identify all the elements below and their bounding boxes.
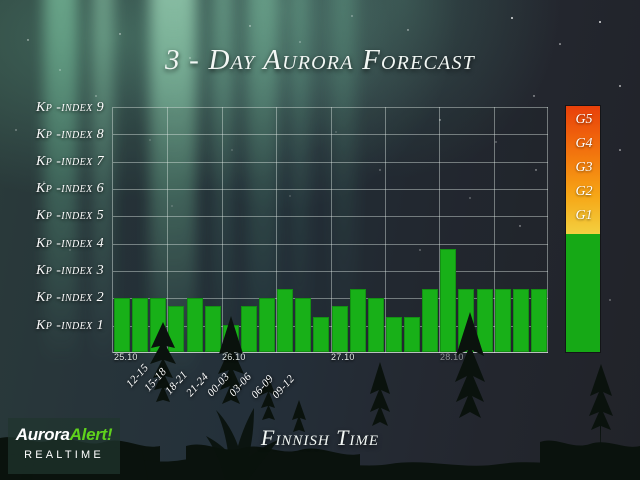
y-axis-label: Kp -index 3: [0, 263, 104, 279]
logo-wordmark: AuroraAlert!: [8, 425, 120, 445]
g-scale-label-g4: G4: [566, 136, 601, 152]
forecast-bar: [495, 289, 511, 352]
forecast-bars: [113, 107, 548, 352]
logo-subtitle: REALTIME: [8, 449, 120, 461]
forecast-bar: [205, 306, 221, 352]
forecast-bar: [187, 298, 203, 352]
y-axis-label: Kp -index 5: [0, 208, 104, 224]
x-axis-date-tick: 25.10: [114, 352, 138, 362]
g-scale-label-g2: G2: [566, 184, 601, 200]
forecast-bar: [404, 317, 420, 352]
forecast-bar: [114, 298, 130, 352]
aurora-alert-logo[interactable]: AuroraAlert! REALTIME: [8, 418, 120, 474]
y-axis-label: Kp -index 2: [0, 290, 104, 306]
forecast-bar: [277, 289, 293, 352]
y-axis-label: Kp -index 7: [0, 154, 104, 170]
forecast-bar: [513, 289, 529, 352]
forecast-bar: [241, 306, 257, 352]
y-axis-label: Kp -index 6: [0, 181, 104, 197]
g-scale-label-g3: G3: [566, 160, 601, 176]
x-axis-date-tick: 28.10: [440, 352, 464, 362]
y-axis-label: Kp -index 1: [0, 318, 104, 334]
forecast-bar: [295, 298, 311, 352]
g-scale-quiet-band: [566, 234, 600, 352]
forecast-bar: [223, 325, 239, 352]
page-title: 3 - Day Aurora Forecast: [0, 44, 640, 77]
forecast-bar: [386, 317, 402, 352]
forecast-bar: [440, 249, 456, 352]
forecast-bar: [313, 317, 329, 352]
forecast-bar: [531, 289, 547, 352]
forecast-bar: [458, 289, 474, 352]
forecast-chart-plot-area: [112, 107, 547, 353]
y-axis-label: Kp -index 8: [0, 127, 104, 143]
x-axis-date-tick: 26.10: [222, 352, 246, 362]
y-axis-label: Kp -index 4: [0, 236, 104, 252]
x-axis-date-tick: 27.10: [331, 352, 355, 362]
g-scale-label-g5: G5: [566, 112, 601, 128]
geomagnetic-storm-scale-legend: G5 G4 G3 G2 G1: [565, 105, 601, 353]
forecast-bar: [132, 298, 148, 352]
y-axis-label: Kp -index 9: [0, 100, 104, 116]
forecast-bar: [350, 289, 366, 352]
aurora-forecast-screenshot: 3 - Day Aurora Forecast Kp -index 9 Kp -…: [0, 0, 640, 480]
logo-word-aurora: Aurora: [16, 425, 70, 444]
forecast-bar: [477, 289, 493, 352]
forecast-bar: [150, 298, 166, 352]
forecast-bar: [422, 289, 438, 352]
logo-word-alert: Alert!: [70, 425, 113, 444]
forecast-bar: [332, 306, 348, 352]
forecast-bar: [259, 298, 275, 352]
forecast-bar: [368, 298, 384, 352]
forecast-bar: [168, 306, 184, 352]
g-scale-label-g1: G1: [566, 208, 601, 224]
